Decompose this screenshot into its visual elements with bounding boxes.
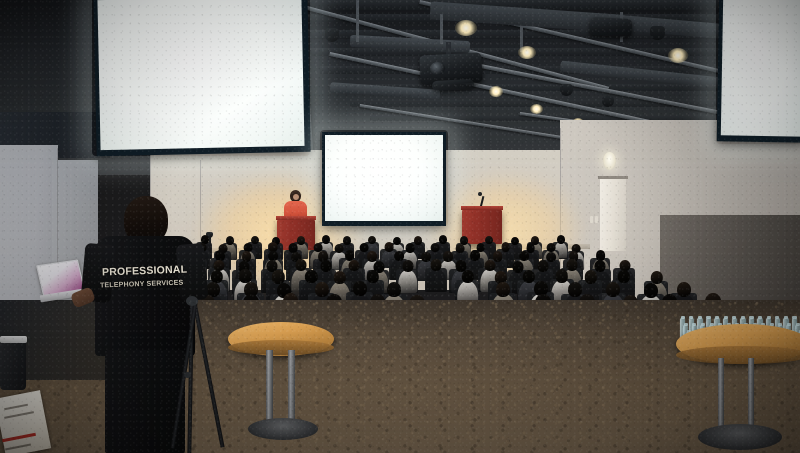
left-projection-screen[interactable] <box>97 0 304 150</box>
audience-member <box>354 260 355 261</box>
audience-member <box>500 271 501 272</box>
audience-member <box>562 269 563 270</box>
audience-member <box>250 282 251 283</box>
audience-member <box>339 244 340 245</box>
waste-bin-lid <box>0 336 27 343</box>
audience-head <box>546 252 556 263</box>
audience-member <box>571 259 572 260</box>
audience-head <box>568 282 582 297</box>
audience-member <box>284 283 285 284</box>
audience-member <box>216 270 217 271</box>
audience-member <box>497 251 498 252</box>
audience-member <box>245 269 246 270</box>
audience-member <box>560 235 561 236</box>
audience-torso <box>427 269 446 292</box>
audience-member <box>448 251 449 252</box>
audience-member <box>612 282 613 283</box>
audience-member <box>251 294 252 295</box>
audience-head <box>431 259 442 271</box>
audience-head <box>405 243 414 252</box>
audience-member <box>630 295 631 296</box>
audience-member <box>272 260 273 261</box>
table-post <box>748 358 754 430</box>
audience-member <box>318 243 319 244</box>
audience-member <box>360 281 361 282</box>
audience-member <box>551 252 552 253</box>
audience-head <box>484 260 495 272</box>
audience-member <box>684 282 685 283</box>
bottle-cap <box>684 323 688 326</box>
audience-head <box>320 260 331 272</box>
audience-head <box>519 251 529 262</box>
bottle-cap <box>792 316 796 319</box>
audience-member <box>530 243 531 244</box>
audience-member <box>416 295 417 296</box>
audience-member <box>418 236 419 237</box>
stage-spotlight <box>650 26 665 40</box>
projector-lens <box>430 62 445 75</box>
audience-member <box>247 243 248 244</box>
audience-head <box>547 243 556 252</box>
round-cocktail-table-edge <box>228 340 334 355</box>
audience-member <box>586 294 587 295</box>
audience-member <box>650 283 651 284</box>
stage-spotlight <box>325 28 339 42</box>
bottle-cap <box>749 316 753 319</box>
bottle-cap <box>732 316 736 319</box>
side-door[interactable] <box>600 179 626 251</box>
audience-member <box>656 271 657 272</box>
audience-member <box>346 236 347 237</box>
audience-member <box>551 243 552 244</box>
audience-member <box>489 236 490 237</box>
ceiling-light <box>489 86 503 97</box>
audience-member <box>372 251 373 252</box>
audience-head <box>566 259 577 271</box>
audience-member <box>300 236 301 237</box>
audience-member <box>278 270 279 271</box>
audience-member <box>436 259 437 260</box>
audience-head <box>251 236 259 245</box>
audience-head <box>511 237 519 246</box>
audience-member <box>576 244 577 245</box>
audience-member <box>514 237 515 238</box>
audience-head <box>456 244 465 253</box>
audience-member <box>398 251 399 252</box>
audience-member <box>219 260 220 261</box>
bottle-cap <box>715 316 719 319</box>
audience-member <box>623 270 624 271</box>
audience-head <box>387 282 401 297</box>
presenter-face <box>293 194 299 200</box>
audience-member <box>600 250 601 251</box>
audience-head <box>296 259 307 271</box>
audience-member <box>503 282 504 283</box>
audience-member <box>275 237 276 238</box>
audience-member <box>543 294 544 295</box>
audience-member <box>480 243 481 244</box>
audience-member <box>378 261 379 262</box>
audience-member <box>397 237 398 238</box>
audience-head <box>513 261 524 273</box>
table-base <box>248 418 318 440</box>
audience-head <box>402 260 413 272</box>
audience-member <box>425 252 426 253</box>
audience-head <box>226 236 234 245</box>
audience-head <box>485 236 493 245</box>
audience-head <box>315 282 329 297</box>
audience-member <box>389 242 390 243</box>
right-screen-frame <box>717 0 800 143</box>
audience-member <box>326 235 327 236</box>
audience-member <box>460 260 461 261</box>
audience-member <box>246 251 247 252</box>
audience-member <box>590 270 591 271</box>
tripod-head[interactable] <box>186 296 198 306</box>
bottle-cap <box>778 323 782 326</box>
audience-member <box>409 243 410 244</box>
table-base <box>698 424 782 450</box>
tripod-lock-knob[interactable] <box>184 372 191 378</box>
audience-member <box>535 236 536 237</box>
audience-head <box>349 260 360 272</box>
audience-member <box>229 236 230 237</box>
left-screen-frame <box>93 0 310 156</box>
audience-member <box>713 293 714 294</box>
ceiling-projector-right <box>590 17 633 37</box>
audience-member <box>372 270 373 271</box>
ceiling-light <box>455 20 477 36</box>
audience-member <box>518 261 519 262</box>
bottle-cap <box>775 316 779 319</box>
audience-member <box>393 282 394 283</box>
audience-head <box>367 251 377 262</box>
bottle-cap <box>689 316 693 319</box>
audience-member <box>624 260 625 261</box>
audience-member <box>407 260 408 261</box>
audience-head <box>414 236 422 245</box>
audience-head <box>443 251 453 262</box>
audience-head <box>606 282 620 297</box>
audience-member <box>295 252 296 253</box>
audience-member <box>459 244 460 245</box>
audience-head <box>439 235 447 244</box>
seminar-room-photo: PROFESSIONAL TELEPHONY SERVICES <box>0 0 800 453</box>
audience-member <box>475 250 476 251</box>
microphone-head <box>478 192 482 196</box>
bottle-cap <box>796 323 800 326</box>
bottle-cap <box>741 316 745 319</box>
bottle-cap <box>767 316 771 319</box>
audience-head <box>394 251 404 262</box>
ceiling-hanger <box>440 14 443 44</box>
audience-head <box>430 243 439 252</box>
audience-member <box>339 271 340 272</box>
audience-member <box>204 235 205 236</box>
ceiling-light <box>518 46 536 59</box>
bottle-cap <box>758 316 762 319</box>
audience-head <box>297 236 305 245</box>
audience-head <box>537 260 548 272</box>
audience-member <box>574 282 575 283</box>
audience-head <box>368 236 376 245</box>
bottle-cap <box>784 316 788 319</box>
audience-member <box>669 294 670 295</box>
audience-member <box>273 251 274 252</box>
audience-member <box>364 243 365 244</box>
audience-head <box>335 244 344 253</box>
audience-head <box>385 242 394 251</box>
bottle-cap <box>701 323 705 326</box>
audience-member <box>293 243 294 244</box>
audience-member <box>311 270 312 271</box>
audience-head <box>360 243 369 252</box>
wall-light-icon <box>603 152 616 170</box>
audience-head <box>677 282 691 297</box>
ceiling-light <box>668 48 688 63</box>
audience-head <box>557 235 565 244</box>
audience-member <box>600 260 601 261</box>
audience-member <box>254 236 255 237</box>
audience-member <box>334 294 335 295</box>
audience-head <box>596 250 606 261</box>
center-projection-screen[interactable] <box>325 135 443 221</box>
ceiling-light <box>530 104 543 114</box>
audience-head <box>644 283 658 298</box>
bottle-cap <box>692 323 696 326</box>
table-post <box>288 350 295 426</box>
audience-member <box>464 236 465 237</box>
table-post <box>718 358 724 430</box>
audience-member <box>434 243 435 244</box>
audience-member <box>377 294 378 295</box>
audience-member <box>467 270 468 271</box>
bottle-cap <box>706 316 710 319</box>
bottle-cap <box>787 323 791 326</box>
audience-member <box>524 251 525 252</box>
audience-member <box>222 244 223 245</box>
audience-member <box>272 242 273 243</box>
audience-member <box>505 242 506 243</box>
light-switch[interactable] <box>595 216 598 223</box>
audience-head <box>496 282 510 297</box>
audience-member <box>372 236 373 237</box>
audience-member <box>529 270 530 271</box>
audience-head <box>421 252 431 263</box>
waste-bin <box>0 340 26 390</box>
audience-member <box>290 293 291 294</box>
audience-head <box>493 251 503 262</box>
audience-member <box>349 250 350 251</box>
audience-member <box>325 260 326 261</box>
audience-member <box>212 282 213 283</box>
audience-member <box>443 235 444 236</box>
audience-member <box>219 250 220 251</box>
center-screen-frame <box>322 132 446 226</box>
audience-member <box>489 260 490 261</box>
audience-member <box>301 259 302 260</box>
ceiling-hanger <box>356 0 359 42</box>
audience-member <box>542 260 543 261</box>
audience-head <box>501 242 510 251</box>
audience-head <box>343 236 351 245</box>
audience-member <box>322 282 323 283</box>
table-post <box>266 350 273 426</box>
bottle-cap <box>698 316 702 319</box>
light-switch[interactable] <box>590 216 593 223</box>
water-bottle-table-edge <box>676 346 800 364</box>
bottle-cap <box>681 316 685 319</box>
audience-head <box>470 250 480 261</box>
audience-head <box>353 281 367 296</box>
right-projection-screen[interactable] <box>721 0 800 137</box>
audience-member <box>541 281 542 282</box>
audience-member <box>243 261 244 262</box>
audience-head <box>595 260 606 272</box>
audience-member <box>573 251 574 252</box>
audience-member <box>202 243 203 244</box>
audience-member <box>322 251 323 252</box>
audience-head <box>393 237 401 246</box>
bottle-cap <box>724 316 728 319</box>
audience-head <box>322 235 330 244</box>
